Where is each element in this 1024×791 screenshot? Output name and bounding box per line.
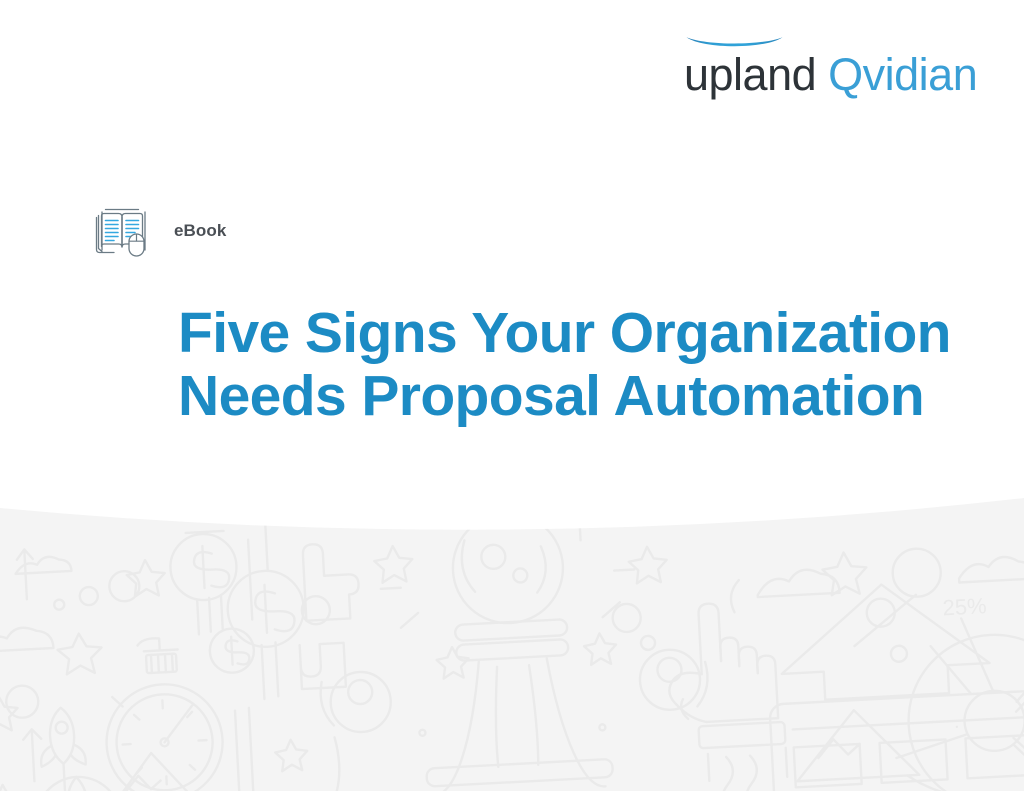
ebook-cover-page: upland Qvidian bbox=[0, 0, 1024, 791]
business-icon-outline-pattern: 25% 25% bbox=[0, 496, 1024, 791]
logo-wordmark: upland Qvidian bbox=[684, 47, 977, 103]
ebook-badge: eBook bbox=[92, 203, 226, 259]
pattern-background bbox=[0, 496, 1024, 791]
line-icon bbox=[381, 588, 401, 589]
logo-upland-text: upland bbox=[684, 49, 816, 100]
decorative-pattern-band: 25% 25% bbox=[0, 496, 1024, 791]
page-title-line-2: Needs Proposal Automation bbox=[178, 365, 938, 428]
open-book-with-mouse-icon bbox=[92, 203, 152, 259]
ebook-badge-label: eBook bbox=[174, 221, 226, 241]
pie-chart-label-25: 25% bbox=[942, 593, 987, 620]
upland-qvidian-logo: upland Qvidian bbox=[684, 36, 934, 106]
page-title: Five Signs Your Organization Needs Propo… bbox=[178, 302, 938, 428]
page-title-line-1: Five Signs Your Organization bbox=[178, 302, 938, 365]
logo-qvidian-text: Qvidian bbox=[828, 49, 977, 100]
line-icon bbox=[614, 570, 634, 571]
